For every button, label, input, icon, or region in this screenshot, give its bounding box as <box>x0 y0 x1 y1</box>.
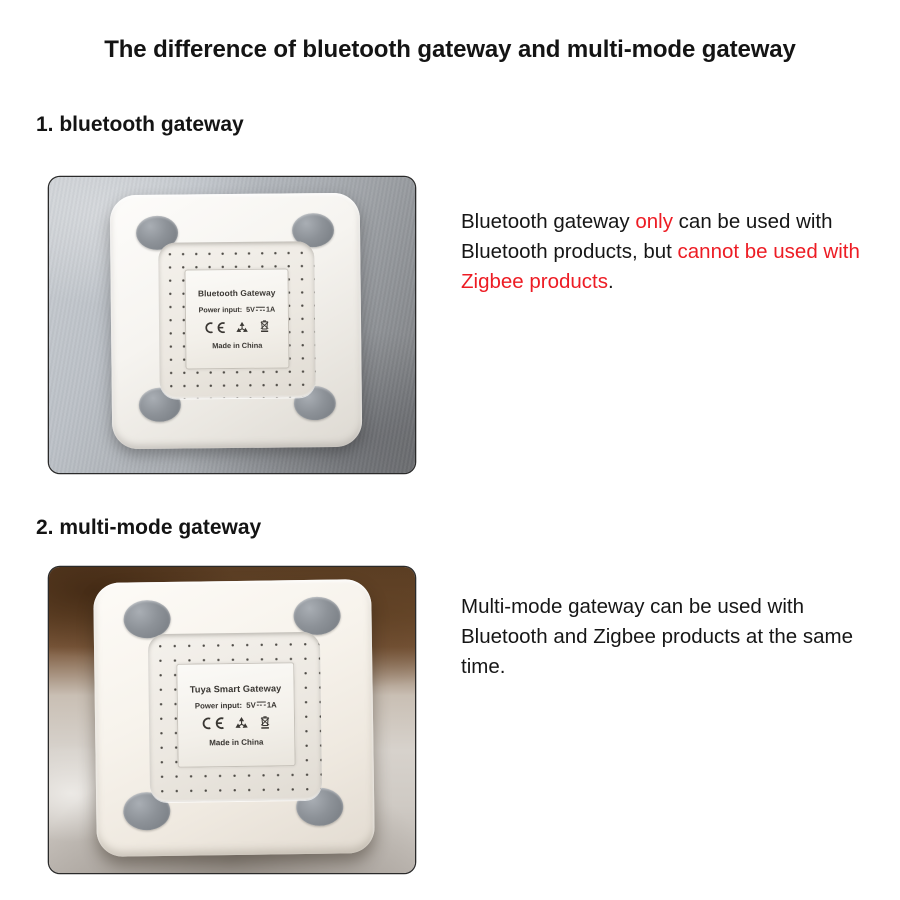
desc1-highlight-only: only <box>635 210 673 233</box>
product-photo-multimode-gateway: Tuya Smart Gateway Power input: 5V 1A <box>49 567 415 873</box>
device-spec-label: Tuya Smart Gateway Power input: 5V 1A <box>176 662 295 768</box>
device-spec-label: Bluetooth Gateway Power input: 5V 1A <box>184 268 289 369</box>
description-bluetooth-gateway: Bluetooth gateway only can be used with … <box>461 207 891 297</box>
label-product-name: Bluetooth Gateway <box>198 288 276 299</box>
label-power-voltage: 5V <box>246 700 256 709</box>
label-power-input: Power input: 5V 1A <box>199 305 276 315</box>
page-root: The difference of bluetooth gateway and … <box>0 0 900 900</box>
label-power-current: 1A <box>267 700 277 709</box>
ce-mark-icon <box>200 716 224 730</box>
device-inset-plate: Bluetooth Gateway Power input: 5V 1A <box>158 241 316 399</box>
dc-current-icon <box>256 306 265 312</box>
label-power-prefix: Power input: <box>195 700 242 710</box>
label-origin: Made in China <box>209 737 263 747</box>
label-certification-symbols <box>203 320 270 335</box>
device-inset-plate: Tuya Smart Gateway Power input: 5V 1A <box>148 632 322 802</box>
label-product-name: Tuya Smart Gateway <box>190 683 282 694</box>
label-power-input: Power input: 5V 1A <box>195 700 277 710</box>
dc-current-icon <box>257 702 266 708</box>
recycle-icon <box>233 716 248 730</box>
device-body-bluetooth-gateway: Bluetooth Gateway Power input: 5V 1A <box>110 193 363 450</box>
rubber-foot-top-left <box>123 600 171 639</box>
label-power-voltage: 5V <box>246 305 255 314</box>
label-power-prefix: Power input: <box>199 305 243 314</box>
recycle-icon <box>234 320 248 333</box>
desc2-part1: Multi-mode gateway can be used with Blue… <box>461 595 853 678</box>
ce-mark-icon <box>203 321 225 334</box>
desc1-part1: Bluetooth gateway <box>461 210 635 233</box>
label-certification-symbols <box>200 715 271 731</box>
description-multimode-gateway: Multi-mode gateway can be used with Blue… <box>461 592 891 682</box>
device-body-multimode-gateway: Tuya Smart Gateway Power input: 5V 1A <box>93 579 375 857</box>
section-heading-multimode: 2. multi-mode gateway <box>36 516 261 540</box>
rubber-foot-top-right <box>293 597 341 636</box>
label-power-current: 1A <box>266 305 275 314</box>
weee-bin-icon <box>257 320 270 334</box>
page-title: The difference of bluetooth gateway and … <box>0 36 900 64</box>
section-heading-bluetooth: 1. bluetooth gateway <box>36 113 244 137</box>
label-origin: Made in China <box>212 341 262 351</box>
weee-bin-icon <box>257 715 271 730</box>
desc1-part5: . <box>608 270 614 293</box>
product-photo-bluetooth-gateway: Bluetooth Gateway Power input: 5V 1A <box>49 177 415 473</box>
